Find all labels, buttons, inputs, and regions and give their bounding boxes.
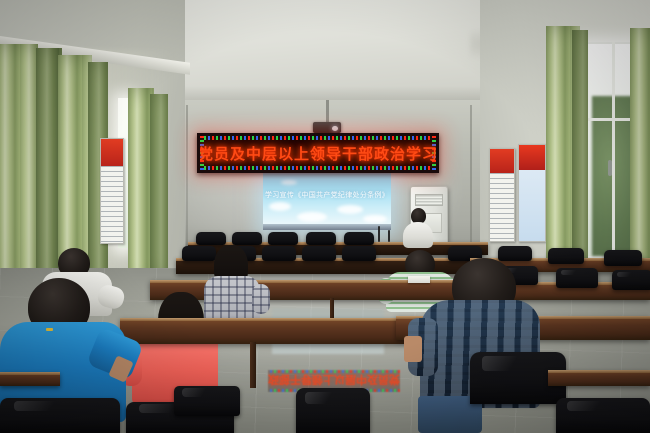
slide-title-text: 学习宣传《中国共产党纪律处分条例》 xyxy=(263,190,391,200)
led-dot-border-bottom xyxy=(200,166,436,170)
poster-body xyxy=(519,170,545,241)
chair[interactable] xyxy=(174,386,240,416)
led-dot-border-top xyxy=(200,136,436,140)
microphone xyxy=(378,226,380,242)
slide-cloud xyxy=(337,205,363,214)
torso xyxy=(403,222,433,248)
projection-screen: 学习宣传《中国共产党纪律处分条例》 xyxy=(263,172,391,230)
left-wall-poster xyxy=(100,138,124,244)
window-handle-icon[interactable] xyxy=(608,160,612,176)
forearm xyxy=(404,336,422,362)
ac-vent-icon xyxy=(415,194,443,206)
chair[interactable] xyxy=(182,246,216,261)
chair[interactable] xyxy=(306,232,336,245)
projector-lens-icon xyxy=(332,126,338,131)
right-wall-poster-1 xyxy=(489,148,515,242)
chair[interactable] xyxy=(232,232,262,245)
poster-header xyxy=(519,145,545,170)
slide-cloud xyxy=(363,215,387,223)
chair[interactable] xyxy=(498,246,532,261)
curtain-left-6[interactable] xyxy=(150,94,168,276)
chair[interactable] xyxy=(296,388,370,433)
chair[interactable] xyxy=(262,246,296,261)
desk-edge-foreground-left xyxy=(0,372,60,386)
desk-edge xyxy=(0,372,60,375)
chair[interactable] xyxy=(548,248,584,264)
led-banner-text: 党员及中层以上领导干部政治学习 xyxy=(206,142,430,164)
led-scrolling-banner: 党员及中层以上领导干部政治学习 xyxy=(197,133,439,173)
chair[interactable] xyxy=(344,232,374,245)
window-mullion xyxy=(612,42,615,256)
notebook xyxy=(408,276,430,283)
desk-edge xyxy=(548,370,650,373)
shirt-logo xyxy=(46,328,53,331)
slide-cloud xyxy=(281,180,297,185)
curtain-left-1[interactable] xyxy=(0,44,38,306)
desk-row-4 xyxy=(120,318,420,344)
desk-edge-foreground-right xyxy=(548,370,650,386)
chair[interactable] xyxy=(302,246,336,261)
poster-header xyxy=(101,139,123,166)
chair[interactable] xyxy=(612,270,650,290)
poster-body xyxy=(101,166,123,243)
right-wall-poster-2 xyxy=(518,144,546,242)
poster-body xyxy=(490,173,514,241)
microphone xyxy=(388,230,390,242)
desk-edge xyxy=(120,318,420,321)
poster-header xyxy=(490,149,514,173)
desk-leg xyxy=(250,342,256,388)
screen-bottom-edge xyxy=(263,224,391,230)
chair[interactable] xyxy=(196,232,226,245)
arm-right xyxy=(252,284,270,314)
chair[interactable] xyxy=(342,246,376,261)
led-reflection-text: 党员及中层以上领导干部政治学习 xyxy=(268,372,400,388)
chair[interactable] xyxy=(556,268,598,288)
chair[interactable] xyxy=(604,250,642,266)
chair[interactable] xyxy=(0,398,120,433)
projector-mount-pole xyxy=(326,100,329,124)
chair[interactable] xyxy=(556,398,650,433)
chair[interactable] xyxy=(268,232,298,245)
conference-room-photo: 学习宣传《中国共产党纪律处分条例》 学习宣传《中国共产党纪律处分条例》 党员及中… xyxy=(0,0,650,433)
slide-cloud xyxy=(269,202,291,211)
slide-cloud xyxy=(297,212,327,222)
